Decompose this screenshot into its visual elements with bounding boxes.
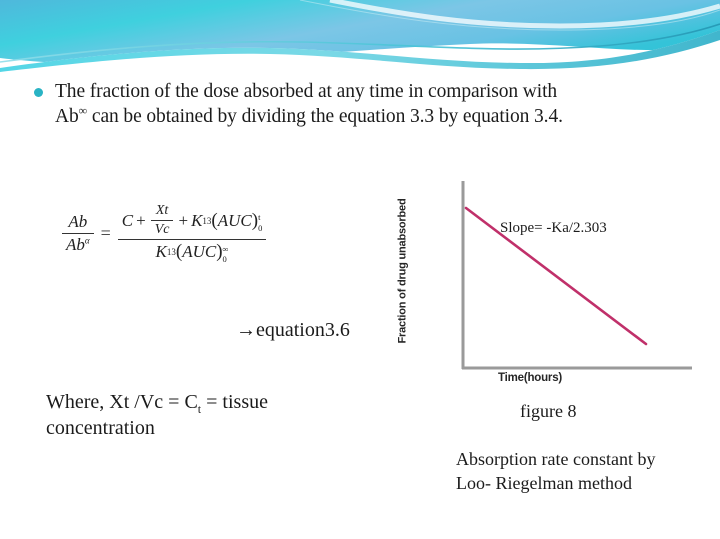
rhs-numerator: C + Xt Vc + K13(AUC)t0	[118, 203, 267, 239]
equation-lhs-fraction: Ab Abα	[62, 212, 94, 255]
bullet-marker-icon	[34, 88, 43, 97]
figure-description: Absorption rate constant by Loo- Riegelm…	[456, 448, 706, 496]
equation-rhs-fraction: C + Xt Vc + K13(AUC)t0 K13(AUC)∞0	[118, 203, 267, 263]
chart-svg	[416, 176, 692, 376]
chart-x-axis-label: Time(hours)	[498, 372, 562, 384]
auc-limits-bottom: ∞0	[223, 245, 229, 264]
rhs-plus-1: +	[136, 211, 146, 231]
bullet-paragraph: The fraction of the dose absorbed at any…	[34, 79, 699, 130]
equation-3-6: Ab Abα = C + Xt Vc + K13(AUC)t0 K13(AUC)…	[62, 203, 266, 263]
inner-numerator: Xt	[152, 203, 172, 220]
bullet-line-2-suffix: can be obtained by dividing the equation…	[87, 106, 563, 127]
auc-lower-limit-bottom: 0	[223, 255, 227, 264]
figure-description-line-2: Loo- Riegelman method	[456, 473, 632, 493]
equation-number-label: →equation3.6	[236, 319, 350, 342]
lhs-numerator: Ab	[64, 212, 91, 233]
denominator-k13-auc-term: K13(AUC)∞0	[156, 241, 229, 263]
lhs-denominator-base: Ab	[66, 235, 85, 254]
header-wave-banner	[0, 0, 720, 72]
rhs-denominator: K13(AUC)∞0	[152, 240, 233, 263]
where-definition-note: Where, Xt /Vc = Ct = tissue concentratio…	[46, 389, 346, 442]
auc-lower-limit-top: 0	[258, 224, 262, 233]
bullet-line-2-prefix: Ab	[55, 106, 79, 127]
k-symbol-bottom: K	[156, 242, 167, 262]
lhs-denominator-superscript: α	[85, 235, 90, 245]
bullet-line-1: The fraction of the dose absorbed at any…	[55, 81, 557, 102]
chart-y-axis-label: Fraction of drug unabsorbed	[394, 176, 410, 366]
figure-description-line-1: Absorption rate constant by	[456, 449, 655, 469]
figure-caption: figure 8	[520, 401, 576, 422]
chart-slope-annotation: Slope= -Ka/2.303	[500, 220, 607, 237]
equals-sign: =	[101, 223, 111, 244]
presentation-slide: The fraction of the dose absorbed at any…	[0, 0, 720, 539]
header-wave-graphic	[0, 0, 720, 72]
chart-plot-area	[416, 176, 692, 376]
where-prefix: Where, Xt /Vc = C	[46, 391, 198, 413]
infinity-superscript: ∞	[79, 104, 87, 118]
auc-symbol-top: AUC	[218, 211, 252, 231]
auc-upper-limit-bottom: ∞	[223, 245, 229, 254]
auc-limits-top: t0	[258, 213, 262, 232]
auc-upper-limit-top: t	[258, 213, 260, 222]
chart-figure: Fraction of drug unabsorbed Slope= -Ka/2…	[392, 176, 692, 376]
rhs-k13-auc-term: K13(AUC)t0	[191, 210, 262, 232]
chart-y-axis-label-text: Fraction of drug unabsorbed	[396, 199, 408, 344]
rhs-term-c: C	[122, 211, 133, 231]
auc-symbol-bottom: AUC	[182, 242, 216, 262]
inner-denominator: Vc	[151, 221, 174, 238]
bullet-text: The fraction of the dose absorbed at any…	[55, 79, 563, 130]
lhs-denominator: Abα	[62, 234, 94, 255]
rhs-inner-fraction: Xt Vc	[151, 203, 174, 238]
rhs-plus-2: +	[178, 211, 188, 231]
k-symbol-top: K	[191, 211, 202, 231]
